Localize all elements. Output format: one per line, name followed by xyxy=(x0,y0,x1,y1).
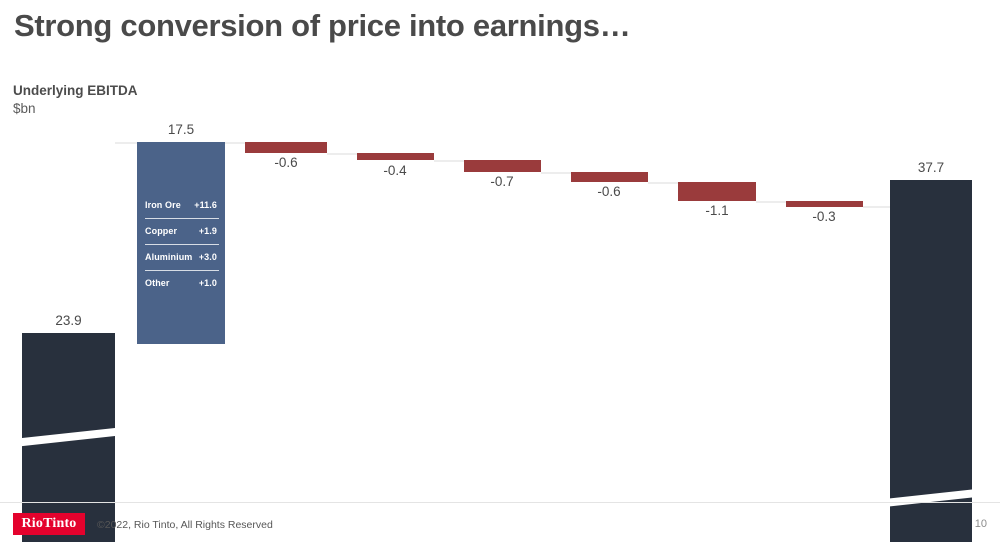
connector-line xyxy=(756,201,786,203)
chart-subtitle: Underlying EBITDA xyxy=(13,83,138,98)
value-label-volumes-and-mix: -0.6 xyxy=(568,184,650,199)
breakdown-row: Iron Ore +11.6 xyxy=(145,192,219,218)
breakdown-label: Iron Ore xyxy=(145,200,181,210)
breakdown-value: +1.9 xyxy=(199,226,217,236)
breakdown-value: +1.0 xyxy=(199,278,217,288)
bar-volumes-and-mix xyxy=(571,172,648,182)
connector-line xyxy=(327,153,357,155)
page-title: Strong conversion of price into earnings… xyxy=(14,8,630,44)
value-label-prices: 17.5 xyxy=(137,122,225,137)
value-label-exchange-rates: -0.6 xyxy=(245,155,327,170)
chart-units-label: $bn xyxy=(13,101,36,116)
connector-line xyxy=(541,172,571,174)
bar-2021-underlying-ebitda xyxy=(890,180,972,542)
breakdown-label: Other xyxy=(145,278,170,288)
value-label-energy: -0.4 xyxy=(354,163,436,178)
page-number: 10 xyxy=(975,518,987,530)
breakdown-label: Copper xyxy=(145,226,177,236)
footer-divider xyxy=(0,502,1000,503)
bar-non-cash-costs-other xyxy=(786,201,863,207)
value-label-inflation: -0.7 xyxy=(461,174,543,189)
bar-2020-underlying-ebitda xyxy=(22,333,115,542)
breakdown-row: Copper +1.9 xyxy=(145,218,219,244)
slide: Strong conversion of price into earnings… xyxy=(0,0,1000,542)
value-label-2021: 37.7 xyxy=(890,160,972,175)
copyright-text: ©2022, Rio Tinto, All Rights Reserved xyxy=(97,519,273,531)
waterfall-chart: 23.9 Iron Ore +11.6 Copper +1.9 Aluminiu… xyxy=(0,120,1000,425)
connector-line xyxy=(225,142,245,144)
connector-line xyxy=(863,206,890,208)
bar-energy xyxy=(357,153,434,160)
bar-inflation xyxy=(464,160,541,172)
value-label-non-cash-costs-other: -0.3 xyxy=(783,209,865,224)
rio-tinto-logo: RioTinto xyxy=(13,513,85,535)
breakdown-label: Aluminium xyxy=(145,252,192,262)
breakdown-value: +11.6 xyxy=(194,200,217,210)
prices-breakdown: Iron Ore +11.6 Copper +1.9 Aluminium +3.… xyxy=(145,192,219,296)
bar-exchange-rates xyxy=(245,142,327,153)
value-label-2020: 23.9 xyxy=(22,313,115,328)
connector-line xyxy=(648,182,678,184)
axis-break-slash-icon xyxy=(882,478,980,518)
axis-break-slash-icon xyxy=(14,417,123,457)
breakdown-row: Other +1.0 xyxy=(145,270,219,296)
bar-operating-cash-unit-costs xyxy=(678,182,756,201)
value-label-operating-cash-unit-costs: -1.1 xyxy=(676,203,758,218)
breakdown-value: +3.0 xyxy=(199,252,217,262)
breakdown-row: Aluminium +3.0 xyxy=(145,244,219,270)
connector-line xyxy=(434,160,464,162)
bar-prices: Iron Ore +11.6 Copper +1.9 Aluminium +3.… xyxy=(137,142,225,344)
